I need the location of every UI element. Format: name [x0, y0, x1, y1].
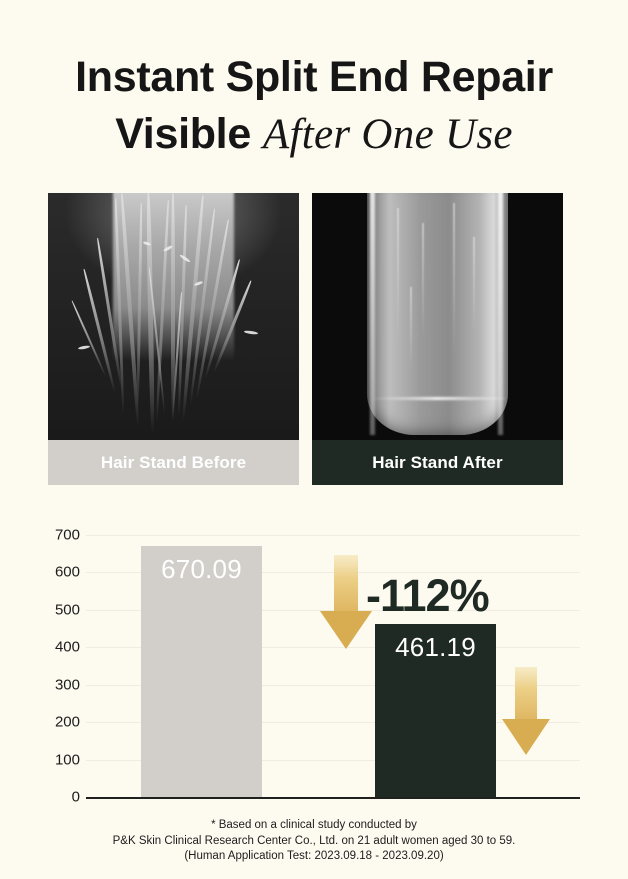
- y-axis-tick-label: 500: [36, 601, 80, 618]
- down-arrow-left: [320, 555, 372, 649]
- y-axis-tick-label: 200: [36, 714, 80, 731]
- panel-before: Hair Stand Before: [48, 193, 299, 485]
- y-axis-tick-label: 0: [36, 789, 80, 806]
- footnote-line-2: P&K Skin Clinical Research Center Co., L…: [0, 834, 628, 850]
- y-axis-tick-label: 400: [36, 639, 80, 656]
- bar-value-label: 461.19: [375, 632, 496, 663]
- comparison-panels: Hair Stand Before Hair Stand After: [48, 193, 580, 485]
- chart-bar: 461.19: [375, 624, 496, 797]
- bar-value-label: 670.09: [141, 554, 262, 585]
- footnote-line-3: (Human Application Test: 2023.09.18 - 20…: [0, 849, 628, 865]
- chart-gridline: [86, 535, 580, 536]
- down-arrow-right: [502, 667, 550, 755]
- y-axis-tick-label: 100: [36, 751, 80, 768]
- headline-line-2-italic: After One Use: [263, 111, 513, 158]
- y-axis-tick-label: 300: [36, 676, 80, 693]
- chart-baseline-axis: [86, 797, 580, 799]
- footnote-line-1: * Based on a clinical study conducted by: [0, 818, 628, 834]
- caption-after: Hair Stand After: [312, 440, 563, 485]
- sem-micrograph-split-hair-end: [48, 193, 299, 440]
- caption-before: Hair Stand Before: [48, 440, 299, 485]
- infographic-page: Instant Split End Repair Visible After O…: [0, 0, 628, 879]
- panel-after: Hair Stand After: [312, 193, 563, 485]
- footnote: * Based on a clinical study conducted by…: [0, 818, 628, 865]
- headline-line-2-bold: Visible: [115, 110, 251, 158]
- sem-micrograph-smooth-hair-end: [312, 193, 563, 440]
- chart-bar: 670.09: [141, 546, 262, 797]
- page-title: Instant Split End Repair Visible After O…: [0, 52, 628, 163]
- headline-line-2: Visible After One Use: [0, 106, 628, 163]
- y-axis-tick-label: 600: [36, 564, 80, 581]
- y-axis-tick-label: 700: [36, 527, 80, 544]
- headline-line-1: Instant Split End Repair: [0, 52, 628, 102]
- percent-change-annotation: -112%: [366, 570, 489, 622]
- bar-chart: 0100200300400500600700 670.09461.19 -112…: [0, 525, 628, 815]
